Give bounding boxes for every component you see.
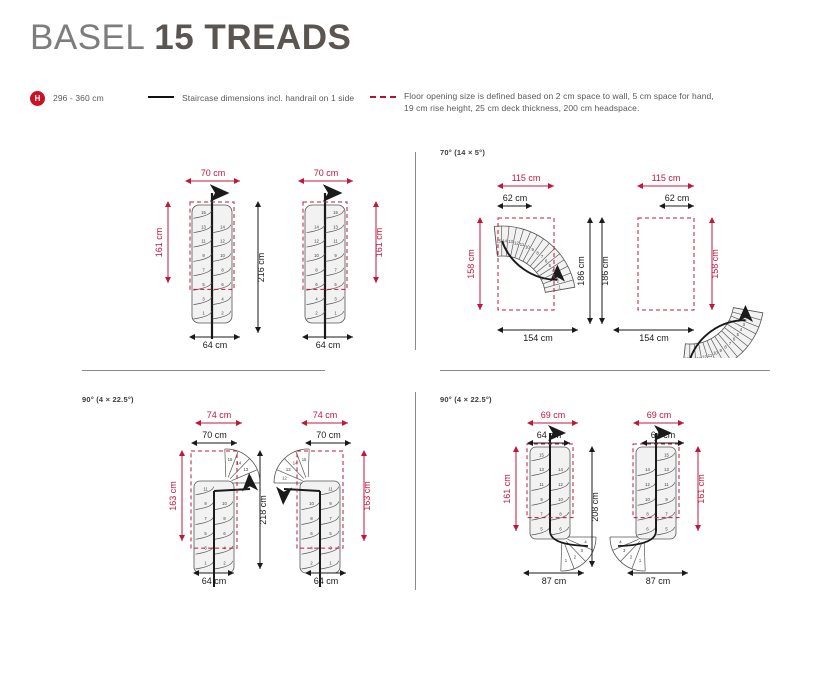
tread-number: 10 [558, 497, 563, 502]
dimension-label: 64 cm [651, 430, 676, 440]
legend-item-height: H 296 - 360 cm [30, 90, 104, 106]
page-title: BASEL 15 TREADS [30, 18, 351, 58]
tread-number: 2 [630, 555, 633, 560]
staircase-winder: 123456789101112131415 [274, 449, 343, 587]
dimension-label: 158 cm [710, 249, 720, 279]
tread-number: 12 [282, 476, 287, 481]
tread-number: 10 [314, 253, 319, 258]
quadrant-top-right-drawing: 151413121110987654321115 cm62 cm158 cm18… [440, 158, 800, 358]
dimension-label: 161 cm [374, 228, 384, 258]
legend-dashed-text: Floor opening size is defined based on 2… [404, 90, 714, 114]
tread-number: 10 [220, 253, 225, 258]
tread-number: 15 [496, 239, 501, 244]
dimension-label: 115 cm [512, 173, 541, 183]
staircase-winder: 567891011121314154321 [610, 433, 679, 571]
tread-number: 4 [619, 539, 622, 544]
quadrant-bottom-left: 90° (4 × 22.5°) 12345678910111213141574 … [82, 395, 402, 595]
staircase-curved: 151413121110987654321 [494, 226, 575, 292]
dimension-label: 161 cm [502, 474, 512, 504]
page-title-brand: BASEL [30, 18, 154, 57]
tread-number: 15 [684, 356, 689, 358]
tread-number: 10 [309, 501, 314, 506]
dimension-label: 74 cm [207, 410, 232, 420]
dimension-label: 64 cm [537, 430, 562, 440]
dimension-label: 161 cm [696, 474, 706, 504]
dimension-label: 69 cm [647, 410, 672, 420]
divider-vertical-bottom [415, 392, 416, 590]
tread-number: 13 [664, 467, 669, 472]
tread-number: 13 [243, 467, 248, 472]
dimension-label: 62 cm [503, 193, 528, 203]
dimension-label: 64 cm [203, 340, 228, 350]
dimension-label: 70 cm [314, 168, 339, 178]
tread-number: 14 [558, 467, 563, 472]
tread-number: 12 [558, 482, 563, 487]
tread-number: 11 [539, 482, 544, 487]
tread-number: 3 [581, 548, 584, 553]
tread-number: 13 [201, 224, 206, 229]
quadrant-top-right: 70° (14 × 5°) 151413121110987654321115 c… [440, 148, 800, 358]
dimension-label: 115 cm [652, 173, 681, 183]
dimension-label: 74 cm [313, 410, 338, 420]
legend-item-solid: Staircase dimensions incl. handrail on 1… [148, 90, 354, 104]
dimension-label: 62 cm [665, 193, 690, 203]
staircase-straight: 123456789101112131415 [190, 193, 234, 339]
tread-number: 11 [664, 482, 669, 487]
tread-number: 13 [539, 467, 544, 472]
tread-number: 1 [639, 558, 642, 563]
staircase-winder: 123456789101112131415 [191, 449, 260, 587]
legend: H 296 - 360 cm Staircase dimensions incl… [30, 90, 790, 124]
dimension-label: 64 cm [316, 340, 341, 350]
quadrant-bottom-right: 90° (4 × 22.5°) 56789101112131415432169 … [440, 395, 760, 595]
tread-number: 15 [201, 210, 206, 215]
quadrant-bottom-left-drawing: 12345678910111213141574 cm70 cm163 cm218… [82, 401, 402, 596]
solid-line-icon [148, 96, 174, 98]
quadrant-bottom-right-drawing: 56789101112131415432169 cm64 cm161 cm208… [440, 401, 760, 596]
dimension-label: 186 cm [600, 256, 610, 286]
staircase-winder: 567891011121314154321 [527, 433, 596, 571]
staircase-straight: 123456789101112131415 [303, 193, 347, 339]
tread-number: 14 [220, 224, 225, 229]
tread-number: 15 [333, 210, 338, 215]
tread-number: 4 [584, 539, 587, 544]
tread-number: 11 [333, 239, 338, 244]
tread-number: 15 [302, 457, 307, 462]
dimension-label: 87 cm [542, 576, 567, 586]
divider-horizontal-left [82, 370, 325, 371]
quadrant-top-right-angle-label: 70° (14 × 5°) [440, 148, 485, 157]
tread-number: 15 [539, 452, 544, 457]
tread-number: 11 [201, 239, 206, 244]
tread-number: 12 [247, 476, 252, 481]
quadrant-top-left-drawing: 12345678910111213141570 cm161 cm216 cm64… [140, 155, 405, 355]
dimension-label: 161 cm [154, 228, 164, 258]
legend-height-text: 296 - 360 cm [53, 92, 104, 104]
tread-number: 11 [328, 486, 333, 491]
tread-number: 1 [565, 558, 568, 563]
divider-vertical-top [415, 152, 416, 350]
tread-number: 11 [203, 486, 208, 491]
dimension-label: 154 cm [639, 333, 669, 343]
tread-number: 3 [623, 548, 626, 553]
tread-number: 11 [708, 353, 713, 358]
dashed-line-icon [370, 96, 396, 98]
dimension-label: 154 cm [523, 333, 553, 343]
tread-number: 2 [574, 555, 577, 560]
tread-number: 13 [333, 224, 338, 229]
dimension-label: 216 cm [256, 253, 266, 283]
tread-number: 12 [314, 239, 319, 244]
tread-number: 12 [220, 239, 225, 244]
dimension-label: 64 cm [314, 576, 339, 586]
tread-number: 14 [645, 467, 650, 472]
tread-number: 15 [664, 452, 669, 457]
tread-number: 15 [228, 457, 233, 462]
dimension-label: 208 cm [590, 492, 600, 522]
dimension-label: 218 cm [258, 495, 268, 525]
legend-solid-text: Staircase dimensions incl. handrail on 1… [182, 92, 354, 104]
dimension-label: 158 cm [466, 249, 476, 279]
dimension-label: 70 cm [201, 168, 226, 178]
dimension-label: 186 cm [576, 256, 586, 286]
dimension-label: 64 cm [202, 576, 227, 586]
dimension-label: 163 cm [362, 481, 372, 511]
tread-number: 14 [314, 224, 319, 229]
quadrant-top-left: 12345678910111213141570 cm161 cm216 cm64… [140, 155, 405, 355]
tread-number: 12 [645, 482, 650, 487]
tread-number: 11 [520, 242, 525, 247]
tread-number: 13 [286, 467, 291, 472]
height-badge-letter: H [35, 94, 41, 103]
dimension-label: 69 cm [541, 410, 566, 420]
staircase-curved: 151413121110987654321 [682, 308, 763, 358]
dimension-label: 70 cm [316, 430, 341, 440]
tread-number: 12 [514, 240, 519, 245]
dimension-label: 70 cm [202, 430, 227, 440]
dimension-label: 163 cm [168, 481, 178, 511]
tread-number: 10 [645, 497, 650, 502]
spec-sheet-page: BASEL 15 TREADS H 296 - 360 cm Staircase… [0, 0, 815, 687]
divider-horizontal-right [440, 370, 770, 371]
tread-number: 13 [508, 239, 513, 244]
dimension-label: 87 cm [646, 576, 671, 586]
legend-item-dashed: Floor opening size is defined based on 2… [370, 90, 714, 114]
page-title-model: 15 TREADS [154, 18, 351, 57]
tread-number: 10 [222, 501, 227, 506]
height-badge-icon: H [30, 91, 45, 106]
tread-number: 13 [696, 356, 701, 358]
